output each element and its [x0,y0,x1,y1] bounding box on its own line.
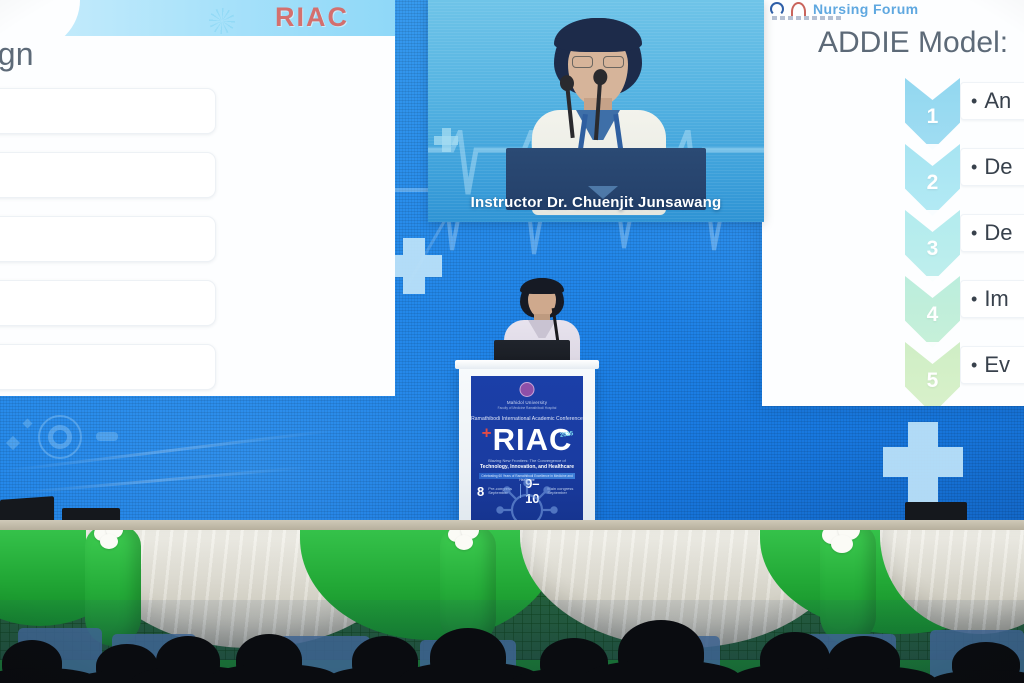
podium-theme-line2: Technology, Innovation, and Healthcare [471,464,583,470]
mahidol-emblem-icon [520,382,535,397]
left-slide-phase-list: Phase Phase ment Phase entation Phase on… [0,88,216,396]
live-video-feed: Instructor Dr. Chuenjit Junsawang [428,0,764,222]
stage-speaker-fringe [520,278,564,294]
list-item[interactable]: 3 • De [905,210,1024,267]
bullet-icon: • [971,91,977,112]
riac-plus-icon: + [482,424,493,443]
sunburst-icon [209,8,235,34]
step-label-box: • De [960,214,1024,252]
conference-stage-photo: RIAC uctional Design Phase Phase ment Ph… [0,0,1024,683]
podium-top-surface [455,360,599,369]
step-label: An [984,88,1011,114]
speaker-glasses [572,56,624,68]
left-projection-screen: RIAC uctional Design Phase Phase ment Ph… [0,0,395,396]
list-item[interactable]: 2 • De [905,144,1024,201]
list-item[interactable]: Phase [0,88,216,134]
step-label: Im [984,286,1008,312]
step-label-box: • Ev [960,346,1024,384]
speaker-fringe [554,18,642,52]
bullet-icon: • [971,223,977,244]
flower-rosette-left [92,530,128,552]
podium-theme-line1: Blazing New Frontiers: The Convergence o… [471,458,583,463]
list-item[interactable]: Phase [0,152,216,198]
list-item[interactable]: entation Phase [0,280,216,326]
bullet-icon: • [971,157,977,178]
step-chevron-3: 3 [905,210,960,282]
virus-graphic-icon [491,476,563,524]
step-number: 4 [927,303,939,327]
tech-circle-graphic [48,425,72,449]
step-number: 3 [927,237,939,261]
step-number: 2 [927,171,939,195]
list-item[interactable]: on Phase [0,344,216,390]
tech-dot-graphic [96,432,118,441]
bullet-icon: • [971,289,977,310]
nursing-forum-header: Nursing Forum [770,1,919,17]
step-number: 1 [927,105,939,129]
addie-step-list: 1 • An 2 • De 3 [905,78,1024,406]
step-label: De [984,154,1012,180]
flower-rosette-right [822,530,868,556]
right-slide-title: ADDIE Model: [818,26,1008,60]
step-number: 5 [927,369,939,393]
podium-university-name: Mahidol University [471,400,583,405]
forum-logo-icon [791,2,806,16]
step-label-box: • An [960,82,1024,120]
video-caption: Instructor Dr. Chuenjit Junsawang [428,194,764,211]
video-medical-cross-icon [434,128,458,188]
podium-university-sub: Faculty of Medicine Ramathibodi Hospital [471,406,583,410]
step-chevron-2: 2 [905,144,960,216]
right-projection-screen: Nursing Forum ADDIE Model: 1 • An 2 • [762,0,1024,406]
flower-rosette-center [448,530,484,552]
podium-date-1: 8 [477,484,484,499]
riac-logo-text: RIAC [275,2,349,32]
riac-logo-left-slide: RIAC [275,2,349,33]
step-label: Ev [984,352,1010,378]
medical-cross-icon [908,422,938,502]
step-label: De [984,220,1012,246]
podium-riac-logo: +RIAC [471,424,583,455]
list-item[interactable]: 5 • Ev [905,342,1024,399]
step-label-box: • Im [960,280,1024,318]
medical-cross-icon [403,238,425,294]
riac-acronym: RIAC [493,422,573,457]
left-slide-title: uctional Design [0,36,34,73]
bullet-icon: • [971,355,977,376]
logo-subtext-bar [772,16,842,20]
podium-banner-poster: Mahidol University Faculty of Medicine R… [471,376,583,524]
step-label-box: • De [960,148,1024,186]
step-chevron-4: 4 [905,276,960,348]
list-item[interactable]: 4 • Im [905,276,1024,333]
forum-label: Nursing Forum [813,1,919,17]
list-item[interactable]: ment Phase [0,216,216,262]
step-chevron-1: 1 [905,78,960,150]
lectern-podium: Mahidol University Faculty of Medicine R… [459,366,595,532]
step-chevron-5: 5 [905,342,960,406]
mahidol-logo-icon [770,2,784,16]
list-item[interactable]: 1 • An [905,78,1024,135]
